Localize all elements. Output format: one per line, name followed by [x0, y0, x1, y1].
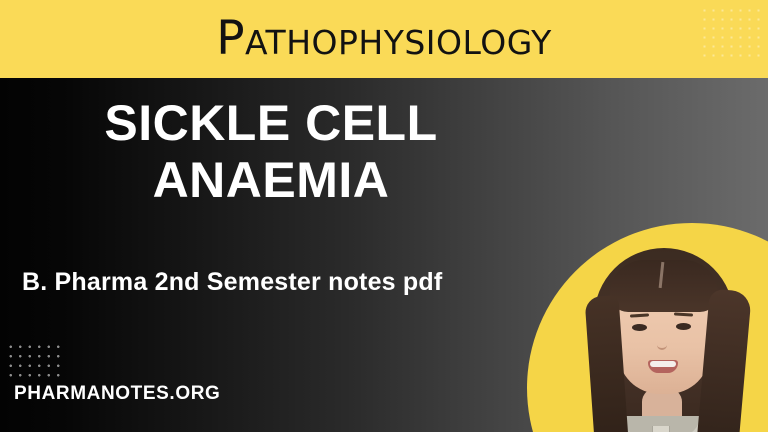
teeth	[650, 361, 676, 367]
page-subtitle: B. Pharma 2nd Semester notes pdf	[22, 265, 582, 299]
brand-watermark: PHARMANOTES.ORG	[14, 383, 220, 405]
mouth	[648, 360, 678, 373]
shirt-placket	[652, 426, 670, 432]
headline-line-2: ANAEMIA	[26, 152, 516, 209]
eye-right	[676, 323, 691, 330]
eye-left	[632, 324, 647, 331]
banner-title: Pathophysiology	[0, 0, 768, 78]
header-banner: Pathophysiology	[0, 0, 768, 78]
corner-dot-grid	[4, 340, 60, 382]
headline-line-1: SICKLE CELL	[104, 95, 437, 151]
nose	[657, 336, 667, 350]
page-title: SICKLE CELL ANAEMIA	[26, 95, 516, 209]
poster-canvas: SICKLE CELL ANAEMIA B. Pharma 2nd Semest…	[0, 0, 768, 432]
hair-fringe	[610, 260, 718, 312]
portrait-photo	[556, 238, 768, 432]
